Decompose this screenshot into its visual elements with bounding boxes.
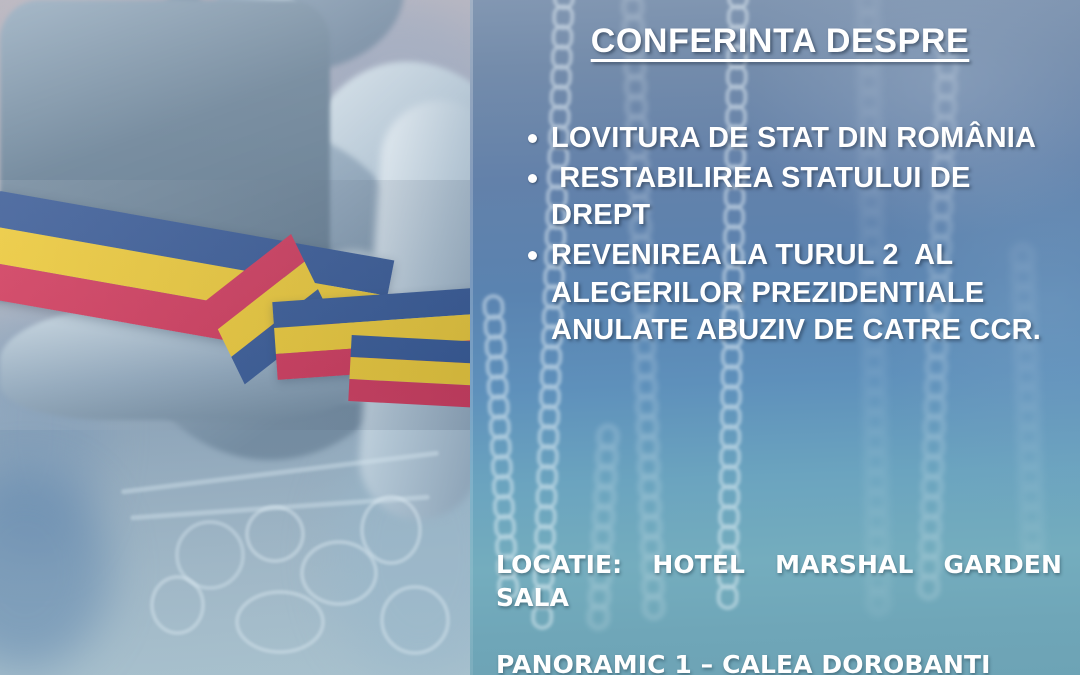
armor-ornament	[380, 585, 450, 655]
list-item: LOVITURA DE STAT DIN ROMÂNIA	[518, 120, 1078, 158]
armor-ornament	[235, 590, 325, 654]
armor-ornament	[150, 575, 205, 635]
ribbon-band-tail	[348, 335, 470, 408]
justice-statue-photo	[0, 0, 470, 675]
topic-list: LOVITURA DE STAT DIN ROMÂNIA RESTABILIRE…	[518, 120, 1078, 352]
venue-line-location: LOCATIE: HOTEL MARSHAL GARDEN SALA	[496, 548, 1062, 648]
armor-ornament	[360, 495, 422, 565]
page-title: CONFERINTA DESPRE	[500, 22, 1060, 61]
venue-details: LOCATIE: HOTEL MARSHAL GARDEN SALA PANOR…	[496, 548, 1062, 675]
conference-poster: CONFERINTA DESPRE LOVITURA DE STAT DIN R…	[0, 0, 1080, 675]
armor-ornament	[245, 505, 305, 563]
romanian-flag-ribbon	[0, 180, 470, 430]
venue-line-address: PANORAMIC 1 – CALEA DOROBANȚI 50B	[496, 648, 1062, 675]
list-item: RESTABILIREA STATULUI DE DREPT	[518, 160, 1078, 235]
list-item: REVENIREA LA TURUL 2 AL ALEGERILOR PREZI…	[518, 237, 1078, 350]
text-panel: CONFERINTA DESPRE LOVITURA DE STAT DIN R…	[470, 0, 1080, 675]
panel-edge	[470, 0, 473, 675]
